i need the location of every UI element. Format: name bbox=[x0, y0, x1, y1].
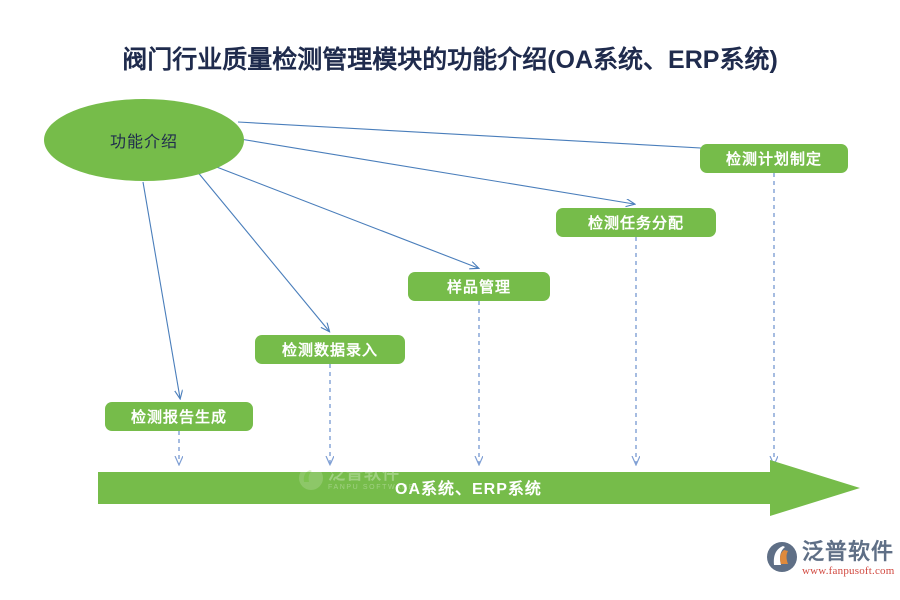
node-label: 样品管理 bbox=[447, 276, 511, 297]
node-box-task[interactable]: 检测任务分配 bbox=[556, 208, 716, 237]
banner-label: OA系统、ERP系统 bbox=[395, 475, 542, 499]
banner-arrow: 泛普软件 FANPU SOFTWARE OA系统、ERP系统 bbox=[98, 460, 860, 516]
node-box-data-entry[interactable]: 检测数据录入 bbox=[255, 335, 405, 364]
root-links bbox=[143, 122, 772, 398]
link-to-plan bbox=[238, 122, 772, 152]
link-to-task bbox=[240, 139, 634, 204]
logo-company-name: 泛普软件 bbox=[802, 540, 895, 563]
link-to-sample bbox=[214, 166, 478, 268]
node-box-report[interactable]: 检测报告生成 bbox=[105, 402, 253, 431]
diagram-canvas: 阀门行业质量检测管理模块的功能介绍(OA系统、ERP系统) bbox=[0, 0, 900, 600]
node-label: 检测报告生成 bbox=[131, 406, 227, 427]
fanpu-logo-icon bbox=[765, 540, 799, 574]
node-box-sample[interactable]: 样品管理 bbox=[408, 272, 550, 301]
link-to-report bbox=[143, 182, 180, 398]
node-box-plan[interactable]: 检测计划制定 bbox=[700, 144, 848, 173]
root-node-functions[interactable]: 功能介绍 bbox=[44, 99, 244, 181]
corner-logo: 泛普软件 www.fanpusoft.com bbox=[765, 540, 895, 577]
link-to-data-entry bbox=[196, 170, 329, 331]
logo-url: www.fanpusoft.com bbox=[802, 565, 895, 577]
node-label: 检测数据录入 bbox=[282, 339, 378, 360]
node-label: 检测计划制定 bbox=[726, 148, 822, 169]
node-label: 检测任务分配 bbox=[588, 212, 684, 233]
root-node-label: 功能介绍 bbox=[110, 128, 178, 152]
